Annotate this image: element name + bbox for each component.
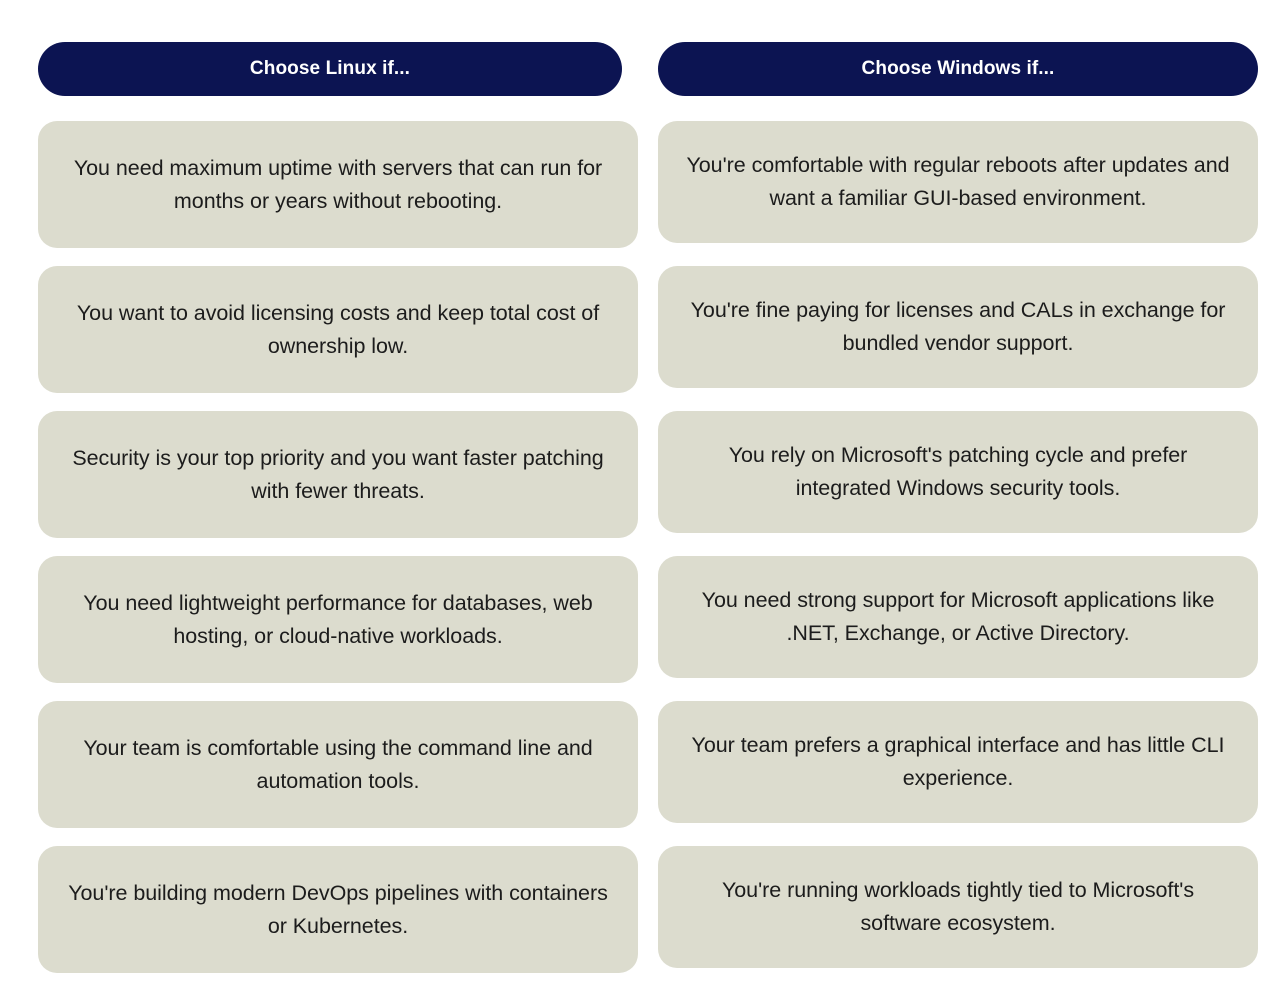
card-text: You need lightweight performance for dat… [64, 587, 612, 652]
card-list-linux: You need maximum uptime with servers tha… [38, 121, 638, 991]
card-text: You rely on Microsoft's patching cycle a… [684, 439, 1232, 504]
list-item: You need maximum uptime with servers tha… [38, 121, 638, 248]
list-item: You need lightweight performance for dat… [38, 556, 638, 683]
comparison-board: Choose Linux if... You need maximum upti… [0, 0, 1280, 1003]
card-text: Your team is comfortable using the comma… [64, 732, 612, 797]
card-text: You need maximum uptime with servers tha… [64, 152, 612, 217]
list-item: You're fine paying for licenses and CALs… [658, 266, 1258, 388]
list-item: Your team prefers a graphical interface … [658, 701, 1258, 823]
list-item: Security is your top priority and you wa… [38, 411, 638, 538]
column-windows: Choose Windows if... You're comfortable … [665, 42, 1258, 991]
list-item: Your team is comfortable using the comma… [38, 701, 638, 828]
list-item: You rely on Microsoft's patching cycle a… [658, 411, 1258, 533]
column-linux: Choose Linux if... You need maximum upti… [38, 42, 638, 991]
column-header-linux: Choose Linux if... [38, 42, 622, 96]
column-header-windows: Choose Windows if... [658, 42, 1258, 96]
list-item: You need strong support for Microsoft ap… [658, 556, 1258, 678]
card-text: You want to avoid licensing costs and ke… [64, 297, 612, 362]
card-text: You're running workloads tightly tied to… [684, 874, 1232, 939]
card-text: You're building modern DevOps pipelines … [64, 877, 612, 942]
card-text: Security is your top priority and you wa… [64, 442, 612, 507]
list-item: You're building modern DevOps pipelines … [38, 846, 638, 973]
card-text: Your team prefers a graphical interface … [684, 729, 1232, 794]
card-list-windows: You're comfortable with regular reboots … [658, 121, 1258, 991]
list-item: You're running workloads tightly tied to… [658, 846, 1258, 968]
card-text: You're fine paying for licenses and CALs… [684, 294, 1232, 359]
card-text: You're comfortable with regular reboots … [684, 149, 1232, 214]
list-item: You're comfortable with regular reboots … [658, 121, 1258, 243]
list-item: You want to avoid licensing costs and ke… [38, 266, 638, 393]
card-text: You need strong support for Microsoft ap… [684, 584, 1232, 649]
